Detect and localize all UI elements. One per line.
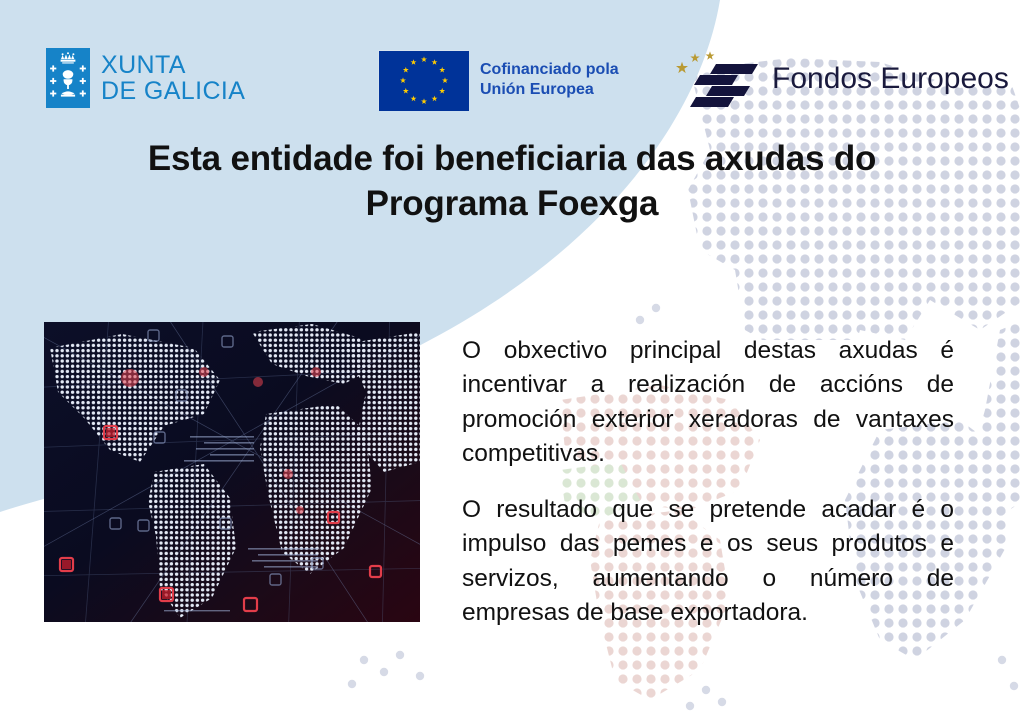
logo-fondos-europeos: Fondos Europeos [672,48,1009,110]
page-title-line2: Programa Foexga [366,184,659,223]
european-union-flag-icon [378,50,468,110]
logo-xunta-de-galicia: XUNTA DE GALICIA [46,48,245,108]
logo-xunta-text: XUNTA DE GALICIA [101,52,245,105]
world-map-network-photo [44,322,420,622]
body-text: O obxectivo principal destas axudas é in… [462,334,954,630]
logo-xunta-line1: XUNTA [101,52,245,79]
logo-strip: XUNTA DE GALICIA [0,40,1024,120]
logo-eu-line1: Cofinanciado pola [480,60,619,80]
logo-eu-line2: Unión Europea [480,80,619,100]
logo-eu-text: Cofinanciado pola Unión Europea [480,60,619,101]
logo-european-union: Cofinanciado pola Unión Europea [378,50,619,110]
page-title-line1: Esta entidade foi beneficiaria das axuda… [148,139,876,178]
logo-xunta-line2: DE GALICIA [101,78,245,105]
logo-fondos-label: Fondos Europeos [772,64,1009,94]
fondos-europeos-stars-bars-icon [672,48,758,110]
body-paragraph-2: O resultado que se pretende acadar é o i… [462,493,954,630]
body-paragraph-1: O obxectivo principal destas axudas é in… [462,334,954,471]
xunta-de-galicia-shield-icon [46,48,90,108]
poster-canvas: XUNTA DE GALICIA [0,0,1024,724]
page-title: Esta entidade foi beneficiaria das axuda… [62,137,962,227]
